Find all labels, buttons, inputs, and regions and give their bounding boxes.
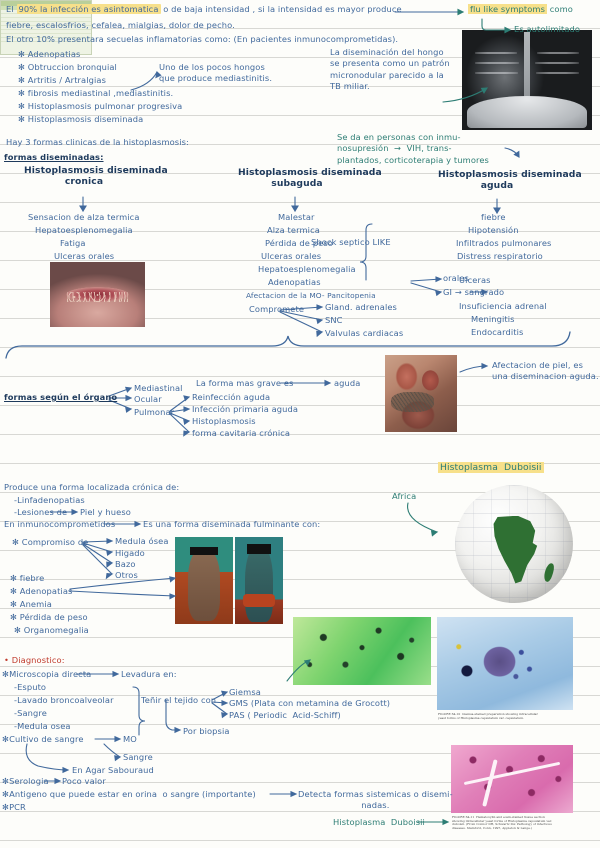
agar-label: En Agar Sabouraud bbox=[72, 765, 154, 776]
duboisii-title-highlight: Histoplasma Duboisii bbox=[438, 462, 544, 473]
compromiso-item-3: Otros bbox=[115, 570, 138, 581]
flu-like-highlight: flu like symptoms bbox=[468, 4, 547, 14]
duboisii-intro: Produce una forma localizada crónica de: bbox=[4, 482, 179, 493]
microscopia-item-0: -Esputo bbox=[14, 682, 46, 693]
biopsia-label: Por biopsia bbox=[183, 726, 230, 737]
figure-caption-6410: FIGURE 64-10 Giemsa-stained preparation … bbox=[438, 713, 572, 720]
he-micrograph bbox=[451, 745, 573, 813]
form-subaguda-item-5: Adenopatias bbox=[268, 277, 321, 288]
organ-forms-label: formas según el órgano bbox=[4, 392, 117, 403]
microscopia-label: ✻Microscopia directa bbox=[2, 669, 91, 680]
intro-line-2: fiebre, escalosfrios, cefalea, mialgias,… bbox=[6, 20, 235, 31]
form-aguda-item-5: Meningitis bbox=[471, 314, 515, 325]
form-aguda-item-6: Endocarditis bbox=[471, 327, 523, 338]
intro-bullet-2: ✻ Artritis / Artralgias bbox=[18, 75, 106, 86]
figure-caption-6411: FIGURE 64-11 Hematoxylin and eosin-stain… bbox=[452, 816, 574, 830]
form-subaguda-item-0: Malestar bbox=[278, 212, 315, 223]
form-subaguda-item-3: Ulceras orales bbox=[261, 251, 321, 262]
chest-xray-figure bbox=[462, 30, 592, 130]
form-subaguda-item-6: Afectacion de la MO- Pancitopenia bbox=[246, 291, 376, 301]
most-severe-label: La forma mas grave es bbox=[196, 378, 293, 389]
intro-bullet-0: ✻ Adenopatias bbox=[18, 49, 80, 60]
form-subaguda-item-4: Hepatoesplenomegalia bbox=[258, 264, 356, 275]
pediatric-photo-right bbox=[235, 537, 283, 624]
compromiso-item-1: Higado bbox=[115, 548, 145, 559]
flu-like-suffix: como bbox=[547, 4, 573, 14]
pulmonar-item-0: Reinfección aguda bbox=[192, 392, 270, 403]
microscopia-item-2: -Sangre bbox=[14, 708, 47, 719]
xray-annotation: La diseminación del hongo se presenta co… bbox=[330, 47, 450, 93]
pulmonar-item-1: Infección primaria aguda bbox=[192, 404, 298, 415]
most-severe-value: aguda bbox=[334, 378, 360, 389]
giemsa-micrograph bbox=[437, 617, 573, 710]
skin-involvement-annotation: Afectacion de piel, es una diseminacion … bbox=[492, 360, 599, 383]
duboisii-title: Histoplasma Duboisii bbox=[438, 462, 544, 473]
cultivo-label: ✻Cultivo de sangre bbox=[2, 734, 84, 745]
form-aguda-item-4: Insuficiencia adrenal bbox=[459, 301, 547, 312]
tincion-0: Giemsa bbox=[229, 687, 261, 698]
mediastinitis-annotation: Uno de los pocos hongos que produce medi… bbox=[159, 62, 272, 85]
gms-micrograph bbox=[293, 617, 431, 685]
pulmonar-item-3: forma cavitaria crónica bbox=[192, 428, 290, 439]
antigeno-target: Detecta formas sistemicas o disemi- nada… bbox=[298, 789, 453, 812]
intro-bullet-5: ✻ Histoplasmosis diseminada bbox=[18, 114, 143, 125]
duboisii-item-0: -Linfadenopatias bbox=[14, 495, 85, 506]
compromete-item-1: SNC bbox=[325, 315, 343, 326]
duboisii-lesiones-target: Piel y hueso bbox=[80, 507, 131, 518]
microscopia-target: Levadura en: bbox=[121, 669, 177, 680]
form-aguda-title: Histoplasmosis diseminada aguda bbox=[438, 169, 556, 192]
intro-line-1: El 90% la infección es asintomatica o de… bbox=[6, 4, 402, 15]
form-cronica-item-2: Fatiga bbox=[60, 238, 86, 249]
autolimitado-annotation: Es autolimitado bbox=[514, 24, 580, 35]
form-cronica-title: Histoplasmosis diseminada cronica bbox=[24, 165, 144, 188]
intro-line-1-prefix: El bbox=[6, 4, 17, 14]
forms-subheading: formas diseminadas: bbox=[4, 152, 104, 163]
tincion-2: PAS ( Periodic Acid-Schiff) bbox=[229, 710, 341, 721]
shock-septico-label: Shock septico LIKE bbox=[311, 237, 391, 248]
intro-bullet-4: ✻ Histoplasmosis pulmonar progresiva bbox=[18, 101, 182, 112]
facial-lesion-photo bbox=[385, 355, 457, 432]
immunosuppression-annotation: Se da en personas con inmu- nosupresión … bbox=[337, 132, 489, 166]
duboisii-symptom-4: ✻ Organomegalia bbox=[14, 625, 89, 636]
form-aguda-item-0: fiebre bbox=[481, 212, 506, 223]
duboisii-symptom-0: ✻ fiebre bbox=[10, 573, 44, 584]
form-cronica-item-1: Hepatoesplenomegalia bbox=[35, 225, 133, 236]
intro-line-1-suffix: o de baja intensidad , si la intensidad … bbox=[161, 4, 402, 14]
cultivo-item-0: MO bbox=[123, 734, 137, 745]
ulceras-item-1: GI → sangrado bbox=[443, 287, 504, 298]
intro-bullet-1: ✻ Obtruccion bronquial bbox=[18, 62, 117, 73]
duboisii-symptom-2: ✻ Anemia bbox=[10, 599, 52, 610]
form-aguda-item-1: Hipotensión bbox=[468, 225, 519, 236]
oral-ulcer-photo bbox=[50, 262, 145, 327]
compromiso-item-0: Medula ósea bbox=[115, 536, 169, 547]
pediatric-photo-left bbox=[175, 537, 233, 624]
africa-label: Africa bbox=[392, 491, 416, 502]
tincion-1: GMS (Plata con metamina de Grocott) bbox=[229, 698, 390, 709]
forms-heading: Hay 3 formas clinicas de la histoplasmos… bbox=[6, 137, 189, 148]
africa-globe-figure bbox=[455, 485, 573, 603]
organ-item-0: Mediastinal bbox=[134, 383, 183, 394]
duboisii-item-1: -Lesiones de bbox=[14, 507, 67, 518]
organ-item-2: Pulmonar bbox=[134, 407, 174, 418]
form-cronica-item-3: Ulceras orales bbox=[54, 251, 114, 262]
antigeno-label: ✻Antigeno que puede estar en orina o san… bbox=[2, 789, 256, 800]
notebook-page: FIGURE 64-10 Giemsa-stained preparation … bbox=[0, 0, 600, 848]
flu-like-annotation: flu like symptoms como bbox=[468, 4, 573, 15]
duboisii-symptom-3: ✻ Pérdida de peso bbox=[10, 612, 88, 623]
intro-highlight-90pct: 90% la infección es asintomatica bbox=[17, 4, 161, 14]
form-aguda-item-3: Distress respiratorio bbox=[457, 251, 543, 262]
compromete-item-0: Gland. adrenales bbox=[325, 302, 397, 313]
duboisii-bottom-caption: Histoplasma Duboisii bbox=[333, 817, 425, 828]
intro-line-3: El otro 10% presentara secuelas inflamat… bbox=[6, 34, 398, 45]
form-aguda-item-2: Infiltrados pulmonares bbox=[456, 238, 551, 249]
form-subaguda-item-1: Alza termica bbox=[267, 225, 320, 236]
compromete-label: Compromete bbox=[249, 304, 304, 315]
serologia-label: ✻Serologia bbox=[2, 776, 49, 787]
duboisii-immuno-label: En inmunocomprometidos bbox=[4, 519, 115, 530]
pcr-label: ✻PCR bbox=[2, 802, 26, 813]
microscopia-item-3: -Medula osea bbox=[14, 721, 71, 732]
diagnostico-heading: • Diagnostico: bbox=[4, 655, 65, 666]
serologia-value: Poco valor bbox=[62, 776, 106, 787]
microscopia-item-1: -Lavado broncoalveolar bbox=[14, 695, 114, 706]
tenir-label: Teñir el tejido con bbox=[141, 695, 216, 706]
cultivo-item-1: Sangre bbox=[123, 752, 153, 763]
ulceras-item-0: orales bbox=[443, 273, 469, 284]
duboisii-symptom-1: ✻ Adenopatias bbox=[10, 586, 72, 597]
form-subaguda-title: Histoplasmosis diseminada subaguda bbox=[238, 167, 356, 190]
form-cronica-item-0: Sensacion de alza termica bbox=[28, 212, 140, 223]
duboisii-immuno-value: Es una forma diseminada fulminante con: bbox=[143, 519, 320, 530]
intro-bullet-3: ✻ fibrosis mediastinal ,mediastinitis. bbox=[18, 88, 173, 99]
compromiso-item-2: Bazo bbox=[115, 559, 136, 570]
compromete-item-2: Valvulas cardiacas bbox=[325, 328, 403, 339]
organ-item-1: Ocular bbox=[134, 394, 162, 405]
compromiso-label: ✻ Compromiso de bbox=[12, 537, 88, 548]
pulmonar-item-2: Histoplasmosis bbox=[192, 416, 256, 427]
